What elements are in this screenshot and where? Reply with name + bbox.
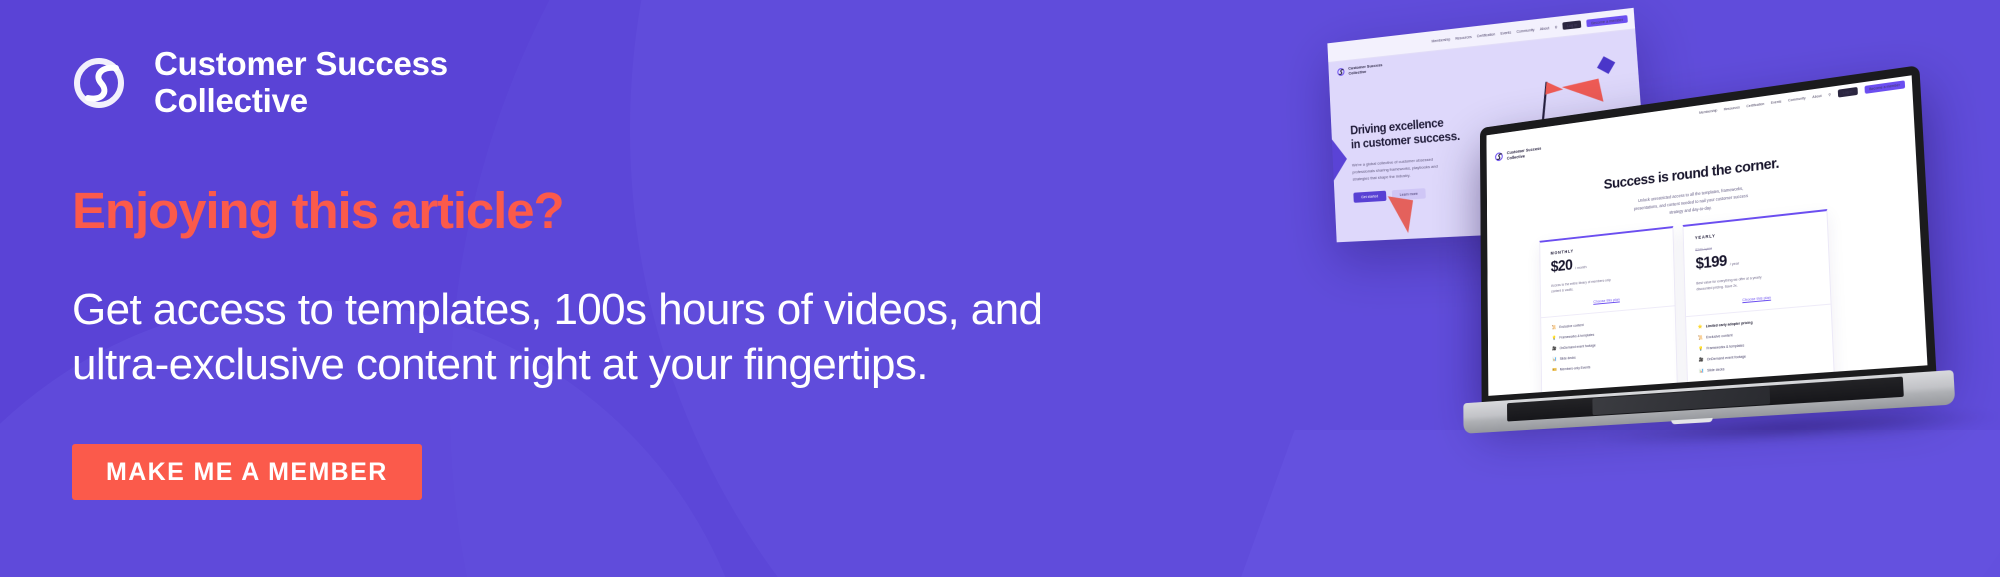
plan-feature-label: Limited early adopter pricing [1706,321,1753,329]
back-screen-paragraph: We're a global collective of customer ob… [1352,156,1439,183]
plan-feature-label: Slide decks [1707,368,1725,373]
back-nav-item: Resources [1455,34,1472,40]
page-title: Enjoying this article? [72,181,564,240]
site-logo-text: Customer Success Collective [1507,146,1542,160]
back-nav-item: Membership [1431,37,1450,43]
back-screen-logo: Customer Success Collective [1337,63,1383,77]
nav-item-membership: Membership [1699,109,1717,115]
back-member-button: Become a member [1587,15,1628,27]
plan-feature-label: Slide decks [1560,356,1576,361]
plan-feature-label: OnDemand event footage [1707,355,1746,362]
login-button: Log in [1838,87,1858,98]
blue-diamond-shape [1597,56,1615,74]
back-screen-heading: Driving excellence in customer success. [1350,115,1460,153]
nav-item-certification: Certification [1746,102,1764,108]
nav-item-resources: Resources [1724,105,1740,111]
pricing-card-yearly: YEARLY $240 / year $199 / year Best valu… [1683,209,1836,393]
plan-price: $20 [1551,257,1573,276]
back-nav-item: Certification [1477,32,1496,38]
plan-description: Access to the entire library of members-… [1551,272,1663,295]
promo-subcopy: Get access to templates, 100s hours of v… [72,282,1042,393]
plan-feature-label: Exclusive content [1706,334,1733,340]
site-nav-links: Membership Resources Certification Event… [1699,80,1905,116]
choose-plan-link: Choose this plan [1697,291,1818,307]
back-screen-logo-text: Customer Success Collective [1348,63,1383,76]
search-icon: ⚲ [1554,25,1557,30]
ticket-icon: 🎫 [1552,367,1557,373]
plan-price: $199 [1695,253,1727,274]
banner-content: Customer Success Collective Enjoying thi… [72,0,1172,577]
laptop-screen: Membership Resources Certification Event… [1486,75,1927,396]
scroll-icon: 📜 [1552,325,1557,331]
brand-name: Customer Success Collective [154,46,448,120]
back-screen-nav-links: Membership Resources Certification Event… [1431,15,1627,45]
back-login-button: Log in [1562,20,1581,30]
slides-icon: 📊 [1552,356,1557,362]
plan-feature-label: Members-only Events [1560,366,1591,372]
back-nav-item: About [1540,26,1550,31]
become-a-member-button: Become a member [1864,80,1905,94]
promo-banner: Customer Success Collective Enjoying thi… [0,0,2000,577]
brand-logo: Customer Success Collective [72,46,448,120]
plan-period: / year [1730,260,1740,266]
laptop-mockup: Membership Resources Certification Event… [1462,63,1960,503]
back-primary-button: Get started [1353,191,1386,203]
video-icon: 🎥 [1552,346,1557,352]
red-kite-shape [1562,79,1604,111]
plan-feature-label: Frameworks & templates [1559,333,1594,340]
scroll-icon: 📜 [1698,335,1703,341]
plan-feature-label: OnDemand event footage [1559,344,1595,351]
back-screen-chevron-shape [1331,137,1348,182]
bulb-icon: 💡 [1698,346,1703,352]
slides-icon: 📊 [1699,368,1704,374]
plan-period: / month [1575,264,1587,270]
site-logo: Customer Success Collective [1495,146,1542,162]
pricing-cards: MONTHLY $20 / month Access to the entire… [1539,209,1835,396]
plan-feature-label: Exclusive content [1559,323,1584,329]
make-me-a-member-button[interactable]: MAKE ME A MEMBER [72,444,422,500]
star-icon: ⭐ [1697,324,1702,330]
product-artwork: Membership Resources Certification Event… [1240,0,2000,577]
back-screen-navbar: Membership Resources Certification Event… [1327,8,1635,63]
video-icon: 🎥 [1698,357,1703,363]
back-nav-item: Community [1516,27,1534,33]
bulb-icon: 💡 [1552,335,1557,341]
plan-feature-label: Frameworks & templates [1706,344,1744,351]
search-icon: ⚲ [1828,93,1831,97]
red-triangle-shape [1383,196,1413,233]
plan-description: Best value for everything we offer at a … [1696,269,1817,293]
red-flag-icon [1541,82,1546,120]
back-nav-item: Events [1500,30,1511,35]
nav-item-events: Events [1771,100,1782,105]
pricing-card-monthly: MONTHLY $20 / month Access to the entire… [1539,226,1678,396]
nav-item-about: About [1812,94,1821,99]
choose-plan-link: Choose this plan [1551,293,1663,308]
cs-collective-monogram-icon [72,53,132,113]
nav-item-community: Community [1788,96,1806,102]
